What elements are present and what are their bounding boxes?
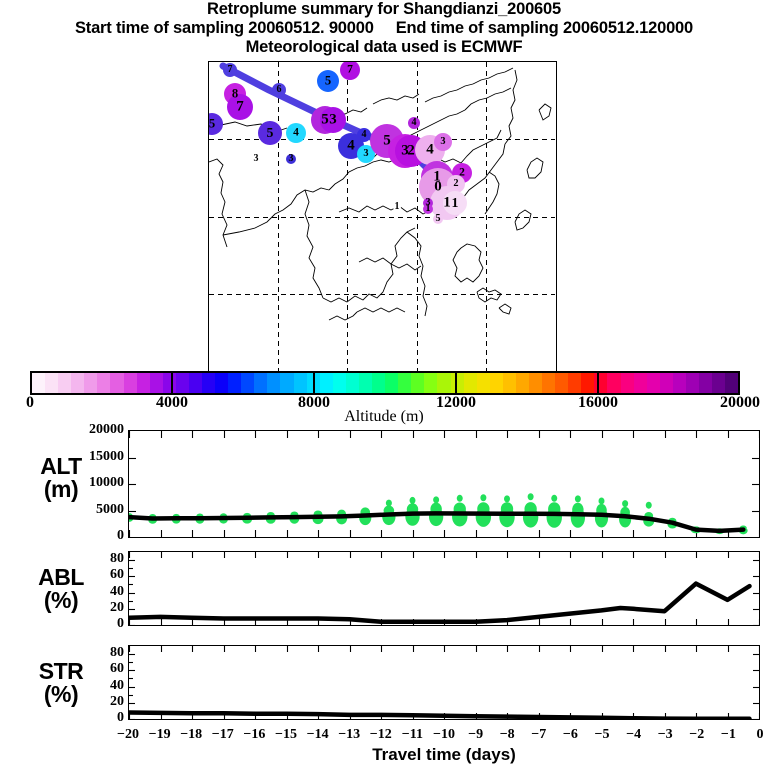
xaxis-tick-label: −14 xyxy=(307,727,329,743)
colorbar-divider xyxy=(313,371,315,395)
colorbar-swatch xyxy=(555,373,568,393)
str-plot-svg xyxy=(129,646,759,719)
colorbar-swatch xyxy=(424,373,437,393)
altitude-colorbar xyxy=(30,371,740,395)
sampling-time-line: Start time of sampling 20060512. 90000En… xyxy=(0,19,768,38)
page-title: Retroplume summary for Shangdianzi_20060… xyxy=(0,0,768,19)
colorbar-swatch xyxy=(202,373,215,393)
colorbar-swatch xyxy=(490,373,503,393)
colorbar-swatch xyxy=(464,373,477,393)
colorbar-swatch xyxy=(124,373,137,393)
xaxis-tick-label: −18 xyxy=(180,727,202,743)
colorbar-divider xyxy=(597,371,599,395)
colorbar-swatch xyxy=(411,373,424,393)
colorbar-swatch xyxy=(660,373,673,393)
colorbar-swatch xyxy=(581,373,594,393)
abl-ytick-label: 80 xyxy=(86,551,124,567)
altitude-ytick-label: 5000 xyxy=(58,502,124,518)
altitude-ytick-label: 0 xyxy=(58,528,124,544)
xaxis-tick-label: −4 xyxy=(626,727,641,743)
colorbar-swatch xyxy=(189,373,202,393)
colorbar-swatch xyxy=(516,373,529,393)
colorbar-swatch xyxy=(712,373,725,393)
plume-marker xyxy=(223,63,237,77)
str-ytick-label: 40 xyxy=(86,678,124,694)
colorbar-swatch xyxy=(176,373,189,393)
retroplume-map[interactable]: 78765755435344353244312021131513 xyxy=(208,61,557,373)
xaxis-tick-label: −5 xyxy=(595,727,610,743)
colorbar-swatch xyxy=(686,373,699,393)
altitude-plot-svg xyxy=(129,431,759,537)
colorbar-swatch xyxy=(372,373,385,393)
plume-marker xyxy=(286,154,296,164)
str-ytick-label: 60 xyxy=(86,661,124,677)
colorbar-swatch xyxy=(503,373,516,393)
colorbar-swatch xyxy=(542,373,555,393)
title-block: Retroplume summary for Shangdianzi_20060… xyxy=(0,0,768,57)
colorbar-swatch xyxy=(451,373,464,393)
abl-ytick-label: 40 xyxy=(86,584,124,600)
colorbar-swatch xyxy=(725,373,738,393)
xaxis-tick-label: −8 xyxy=(500,727,515,743)
colorbar-swatch xyxy=(673,373,686,393)
plume-marker xyxy=(208,113,223,135)
xaxis-tick-label: −11 xyxy=(402,727,423,743)
plume-marker xyxy=(423,204,433,214)
abl-ytick-label: 20 xyxy=(86,600,124,616)
colorbar-swatch xyxy=(110,373,123,393)
colorbar-swatch xyxy=(320,373,333,393)
plume-marker xyxy=(227,94,253,120)
colorbar-swatch xyxy=(150,373,163,393)
plume-marker xyxy=(258,121,282,145)
xaxis-tick-label: −19 xyxy=(149,727,171,743)
colorbar-swatch xyxy=(529,373,542,393)
xaxis-tick-label: −20 xyxy=(117,727,139,743)
colorbar-swatch xyxy=(477,373,490,393)
str-timeseries-chart[interactable] xyxy=(128,645,760,720)
colorbar-swatch xyxy=(280,373,293,393)
str-ytick-label: 20 xyxy=(86,694,124,710)
colorbar-swatch xyxy=(137,373,150,393)
plume-marker xyxy=(433,214,443,224)
altitude-ytick-label: 20000 xyxy=(58,422,124,438)
colorbar-swatch xyxy=(254,373,267,393)
xaxis-tick-label: −2 xyxy=(689,727,704,743)
colorbar-swatch xyxy=(437,373,450,393)
abl-ytick-label: 0 xyxy=(86,616,124,632)
colorbar-swatch xyxy=(647,373,660,393)
colorbar-swatch xyxy=(58,373,71,393)
colorbar-swatch xyxy=(359,373,372,393)
xaxis-tick-label: −16 xyxy=(243,727,265,743)
colorbar-swatch xyxy=(607,373,620,393)
plume-marker xyxy=(272,83,286,97)
plume-marker xyxy=(443,191,467,215)
xaxis-tick-label: −17 xyxy=(212,727,234,743)
xaxis-tick-label: −15 xyxy=(275,727,297,743)
colorbar-swatch xyxy=(294,373,307,393)
colorbar-swatch xyxy=(97,373,110,393)
colorbar-divider xyxy=(455,371,457,395)
plume-marker xyxy=(286,123,306,143)
plume-marker xyxy=(252,155,260,163)
altitude-ytick-label: 10000 xyxy=(58,475,124,491)
colorbar-swatch xyxy=(333,373,346,393)
colorbar-divider xyxy=(171,371,173,395)
colorbar-swatch xyxy=(267,373,280,393)
met-data-label: Meteorological data used is ECMWF xyxy=(0,38,768,57)
colorbar-swatch xyxy=(84,373,97,393)
abl-ytick-label: 60 xyxy=(86,567,124,583)
colorbar-swatch xyxy=(215,373,228,393)
xaxis-tick-label: 0 xyxy=(757,727,764,743)
colorbar-swatch xyxy=(398,373,411,393)
colorbar-swatch xyxy=(228,373,241,393)
colorbar-swatch xyxy=(699,373,712,393)
plume-marker xyxy=(340,61,360,80)
altitude-timeseries-chart[interactable] xyxy=(128,430,760,538)
altitude-ytick-label: 15000 xyxy=(58,449,124,465)
colorbar-swatch xyxy=(32,373,45,393)
str-ytick-label: 80 xyxy=(86,645,124,661)
xaxis-tick-label: −13 xyxy=(338,727,360,743)
plume-marker xyxy=(393,203,401,211)
xaxis-title: Travel time (days) xyxy=(128,745,760,765)
xaxis-tick-label: −9 xyxy=(468,727,483,743)
colorbar-swatch xyxy=(385,373,398,393)
xaxis-tick-label: −7 xyxy=(531,727,546,743)
colorbar-swatch xyxy=(346,373,359,393)
plume-marker xyxy=(320,107,346,133)
start-time-label: Start time of sampling 20060512. 90000 xyxy=(75,19,374,37)
plume-markers-layer: 78765755435344353244312021131513 xyxy=(209,62,555,371)
abl-plot-svg xyxy=(129,552,759,625)
colorbar-swatch xyxy=(621,373,634,393)
str-ytick-label: 0 xyxy=(86,710,124,726)
xaxis-tick-label: −12 xyxy=(370,727,392,743)
end-time-label: End time of sampling 20060512.120000 xyxy=(396,19,693,37)
xaxis-tick-label: −3 xyxy=(658,727,673,743)
colorbar-swatch xyxy=(163,373,176,393)
colorbar-swatch xyxy=(568,373,581,393)
plume-marker xyxy=(434,133,452,151)
colorbar-swatch xyxy=(634,373,647,393)
xaxis-tick-label: −1 xyxy=(721,727,736,743)
plume-marker xyxy=(408,117,420,129)
colorbar-swatch xyxy=(45,373,58,393)
abl-timeseries-chart[interactable] xyxy=(128,551,760,626)
colorbar-swatch xyxy=(71,373,84,393)
xaxis-tick-label: −6 xyxy=(563,727,578,743)
plume-marker xyxy=(317,70,339,92)
xaxis-tick-label: −10 xyxy=(433,727,455,743)
colorbar-swatch xyxy=(241,373,254,393)
